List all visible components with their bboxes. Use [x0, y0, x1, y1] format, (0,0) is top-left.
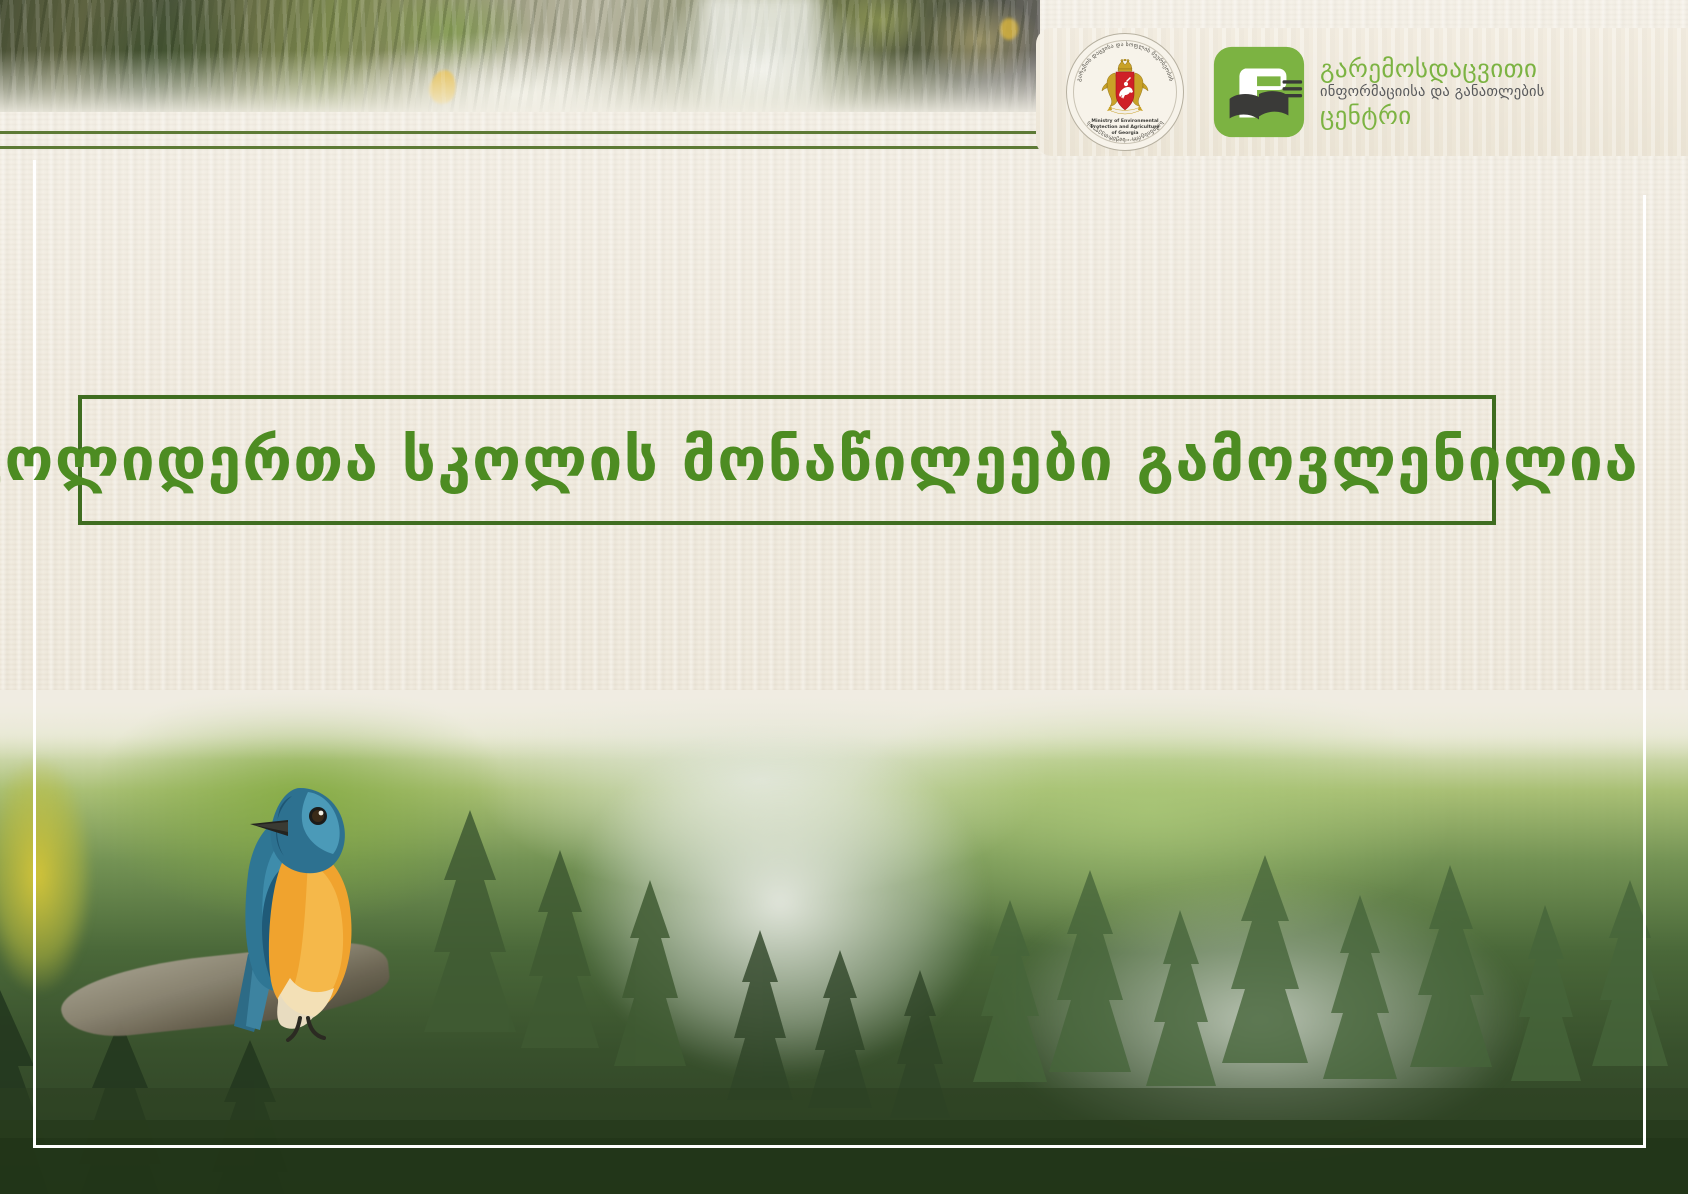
frame-border-right: [1643, 195, 1646, 1148]
flycatcher-bird-illustration: [196, 742, 406, 1042]
eiec-logo: გარემოსდაცვითი ინფორმაციისა და განათლები…: [1210, 43, 1545, 141]
seal-caption: Ministry of Environmental Protection and…: [1066, 119, 1184, 138]
logo-bar: გარემოს დაცვისა და სოფლის მეურნეობის სამ…: [1036, 28, 1688, 156]
eiec-open-book-icon: [1210, 43, 1308, 141]
frame-border-left: [33, 160, 36, 1148]
frame-border-bottom: [33, 1145, 1646, 1148]
ministry-of-environment-seal: გარემოს დაცვისა და სოფლის მეურნეობის სამ…: [1066, 33, 1184, 151]
eiec-logo-line2: ინფორმაციისა და განათლების: [1320, 85, 1545, 100]
poster-canvas: გარემოს დაცვისა და სოფლის მეურნეობის სამ…: [0, 0, 1688, 1194]
top-forest-photo: [0, 0, 1040, 112]
eiec-logo-line1: გარემოსდაცვითი: [1320, 56, 1545, 81]
eiec-logo-text: გარემოსდაცვითი ინფორმაციისა და განათლები…: [1320, 56, 1545, 128]
header-rule-upper: [0, 131, 1040, 134]
headline-box: ეკოლიდერთა სკოლის მონაწილეები გამოვლენილ…: [78, 395, 1496, 525]
eiec-logo-line3: ცენტრი: [1320, 103, 1545, 128]
georgia-coat-of-arms-icon: [1093, 59, 1157, 117]
seal-caption-line3: of Georgia: [1066, 131, 1184, 137]
header-rule-lower: [0, 146, 1040, 149]
top-photo-mist-overlay: [0, 0, 1040, 112]
seal-url: mepa.gov.ge: [1066, 138, 1184, 142]
page-title: ეკოლიდერთა სკოლის მონაწილეები გამოვლენილ…: [0, 425, 1639, 495]
